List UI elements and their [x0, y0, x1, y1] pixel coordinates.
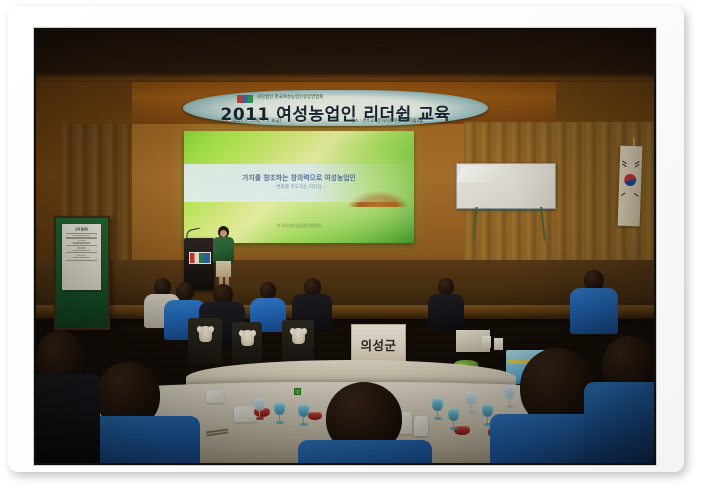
projection-screen: 가치를 창조하는 창의력으로 여성농업인 - 변화를 주도하는 리더십 - 한국… [184, 131, 414, 243]
flag-trigram-6 [634, 193, 639, 197]
whiteboard-crossbar [472, 210, 546, 211]
program-sheet-line [73, 235, 90, 236]
foreground-torso [298, 440, 432, 463]
attendee-torso [428, 294, 464, 330]
program-sheet-line [66, 260, 97, 261]
program-sheet-line [73, 250, 90, 251]
podium-emblem-icon [189, 252, 211, 264]
presenter-jacket [213, 237, 234, 263]
chair-sash-bow-icon [292, 328, 305, 344]
goblet-foot [256, 417, 264, 420]
whiteboard-glare [456, 166, 501, 182]
foreground-torso [584, 382, 654, 463]
table-carton [482, 336, 491, 348]
attendee-torso [570, 288, 618, 334]
table-green-item [294, 388, 301, 395]
event-banner: 사단법인 한국여성농업인중앙연합회 2011 여성농업인 리더쉽 교육 일시 :… [183, 90, 488, 126]
folded-napkin [234, 406, 256, 422]
table-name-sign: 의성군 [351, 324, 406, 364]
goblet-foot [276, 421, 284, 424]
stage-front-edge [36, 305, 654, 319]
goblet-foot [506, 405, 514, 408]
slide-subtitle: - 변화를 주도하는 리더십 - [184, 184, 414, 190]
red-bowl [308, 412, 322, 420]
table-name-sign-label: 의성군 [360, 335, 396, 354]
photograph: 사단법인 한국여성농업인중앙연합회 2011 여성농업인 리더쉽 교육 일시 :… [36, 30, 654, 463]
slide-title: 가치를 창조하는 창의력으로 여성농업인 [184, 172, 414, 182]
program-sheet-title: 교육 일정표 [64, 227, 99, 232]
program-sheet-line [66, 237, 97, 238]
program-sheet-line [66, 233, 97, 234]
goblet-foot [434, 417, 442, 420]
folded-napkin [206, 390, 224, 403]
slide-text-band: 가치를 창조하는 창의력으로 여성농업인 - 변화를 주도하는 리더십 - [184, 164, 414, 202]
table-carton [494, 338, 503, 350]
program-sheet: 교육 일정표 [62, 224, 101, 290]
goblet-foot [450, 427, 458, 430]
chair-sash-bow-icon [199, 326, 212, 342]
attendee-head [438, 278, 454, 295]
chair-sash-bow-icon [241, 330, 254, 346]
program-sheet-line [77, 255, 86, 256]
goblet-foot [300, 423, 308, 426]
attendee-head [176, 282, 194, 301]
picture-frame: 사단법인 한국여성농업인중앙연합회 2011 여성농업인 리더쉽 교육 일시 :… [0, 0, 706, 490]
whiteboard [456, 163, 556, 209]
flag-trigram-5 [621, 193, 626, 197]
program-sheet-line [73, 257, 90, 258]
korean-national-flag-icon [618, 146, 643, 227]
program-display-board: 교육 일정표 [54, 216, 110, 330]
goblet-foot [468, 411, 476, 414]
presenter-face [220, 230, 227, 237]
folded-napkin [414, 416, 428, 436]
program-sheet-line [66, 252, 97, 253]
foreground-torso [36, 374, 100, 463]
program-sheet-line [66, 245, 97, 246]
taeguk-symbol [624, 174, 636, 186]
banner-place-text: 장소 : 경주교육문화회관 본관3층 가람2홀 [351, 118, 423, 125]
program-sheet-line [77, 247, 86, 248]
program-sheet-line [73, 242, 90, 243]
banner-date-text: 일시 : 2011. 7. 7(목) ~ 7. 8(금) [221, 118, 281, 125]
attendee-head [260, 282, 276, 299]
presenter-skirt [216, 261, 231, 277]
program-sheet-line [77, 240, 86, 241]
